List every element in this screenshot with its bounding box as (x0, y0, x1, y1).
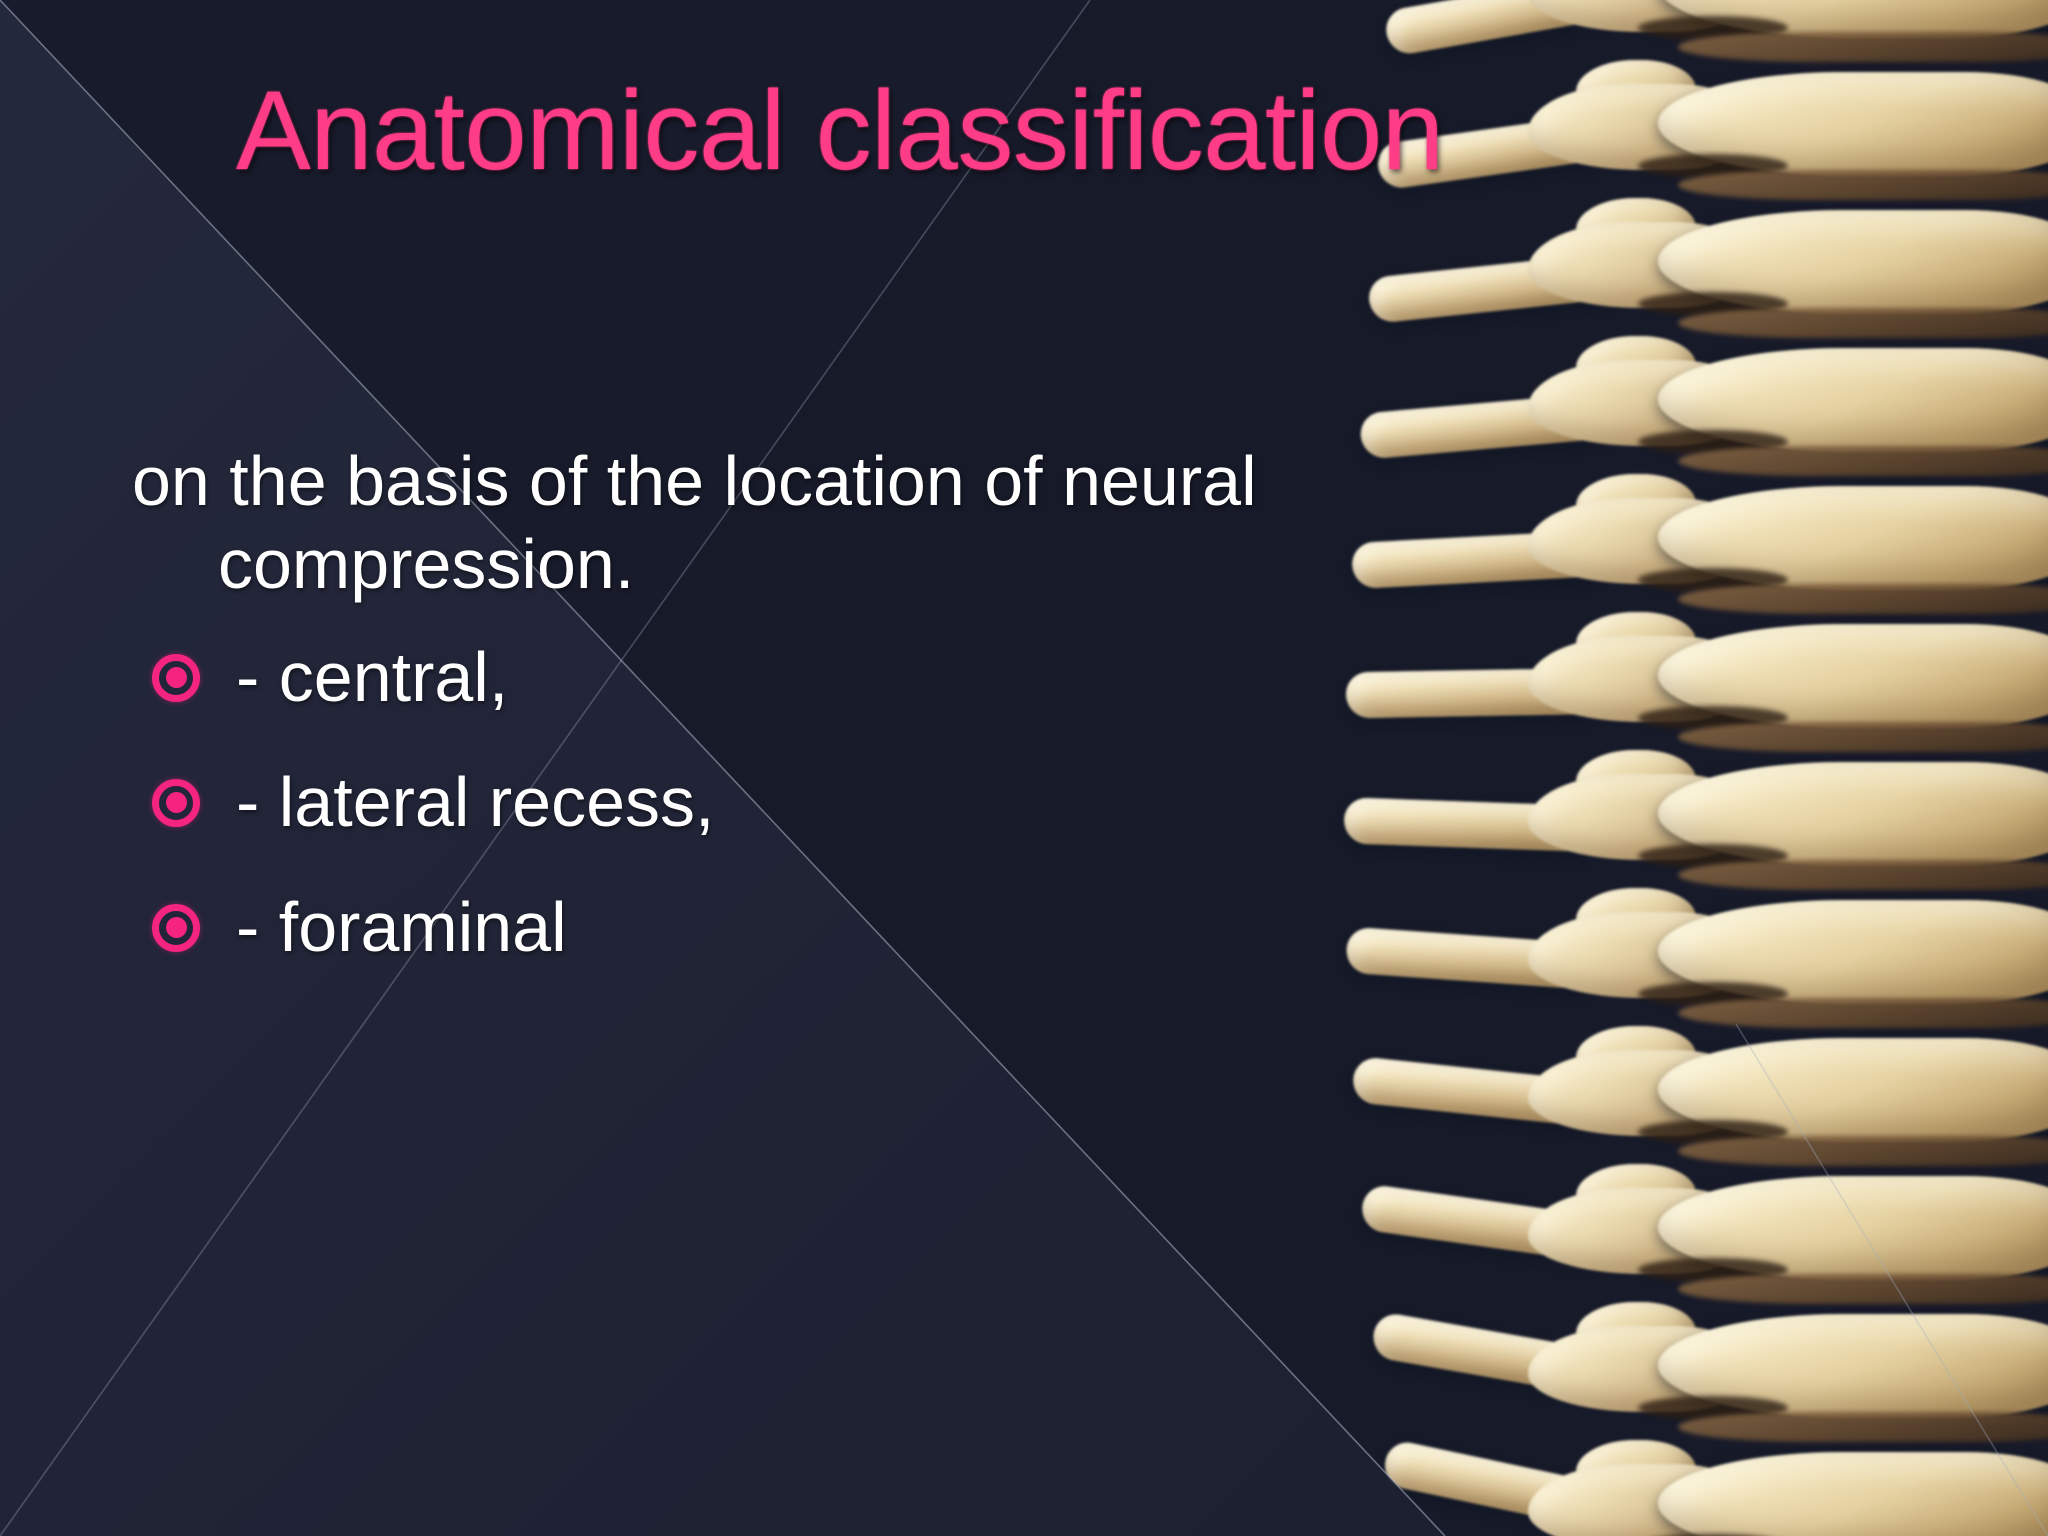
bullet-list: - central, - lateral recess, - foraminal (132, 639, 1552, 966)
target-bullet-icon (152, 904, 200, 952)
target-bullet-icon (152, 654, 200, 702)
list-item: - lateral recess, (132, 764, 1552, 841)
slide-body: on the basis of the location of neural c… (132, 440, 1552, 1014)
list-item: - central, (132, 639, 1552, 716)
lead-line-1: on the basis of the location of neural (132, 442, 1257, 520)
bullet-label: - foraminal (236, 889, 567, 966)
lead-line-2: compression. (132, 523, 1552, 606)
lead-paragraph: on the basis of the location of neural c… (132, 440, 1552, 605)
list-item: - foraminal (132, 889, 1552, 966)
presentation-slide: Anatomical classification on the basis o… (0, 0, 2048, 1536)
target-bullet-icon (152, 779, 200, 827)
bullet-label: - central, (236, 639, 508, 716)
bullet-label: - lateral recess, (236, 764, 714, 841)
page-title: Anatomical classification (236, 72, 1444, 191)
